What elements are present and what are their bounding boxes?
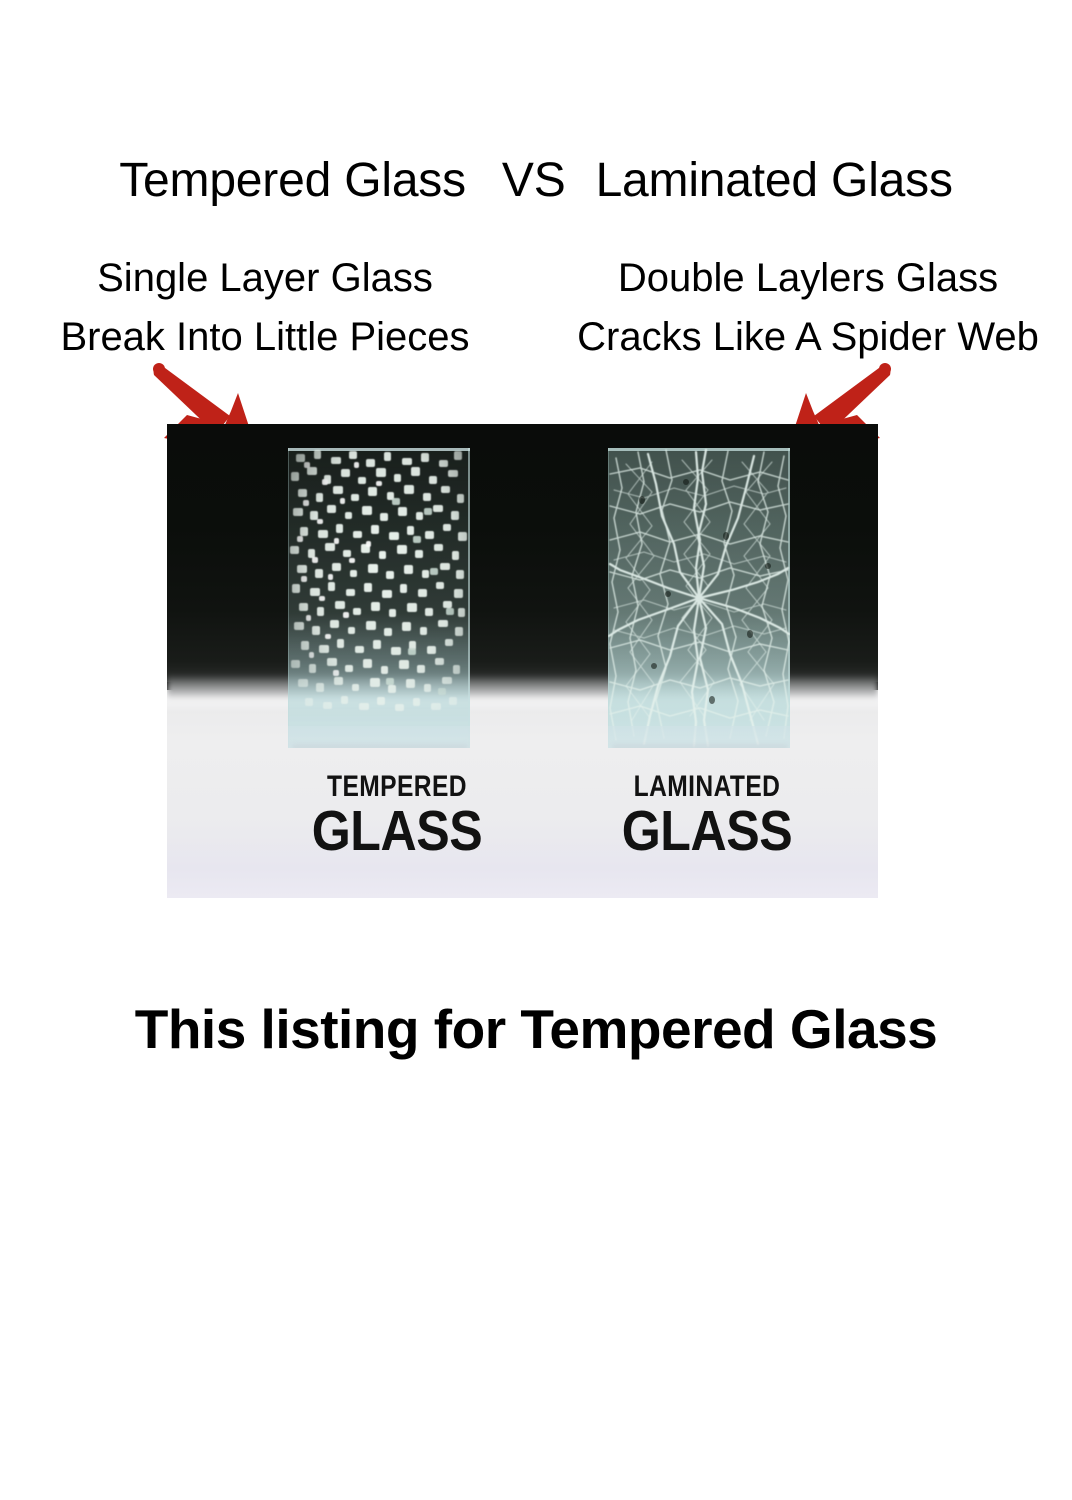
tempered-glass-panel — [288, 448, 470, 748]
laminated-description: Double Laylers Glass Cracks Like A Spide… — [548, 249, 1068, 367]
laminated-desc-line-2: Cracks Like A Spider Web — [548, 308, 1068, 367]
tempered-description: Single Layer Glass Break Into Little Pie… — [10, 249, 520, 367]
listing-note: This listing for Tempered Glass — [0, 996, 1072, 1062]
laminated-crack-web — [608, 448, 790, 748]
photo-caption-tempered: TEMPERED GLASS — [257, 771, 537, 859]
page-title: Tempered GlassVSLaminated Glass — [0, 152, 1072, 210]
tempered-desc-line-1: Single Layer Glass — [10, 249, 520, 308]
infographic-page: Tempered GlassVSLaminated Glass Single L… — [0, 0, 1072, 1500]
laminated-pane-reflection — [612, 744, 788, 748]
tempered-pane-reflection — [292, 744, 468, 748]
title-versus: VS — [502, 152, 566, 210]
tempered-desc-line-2: Break Into Little Pieces — [10, 308, 520, 367]
photo-caption-laminated-large: GLASS — [584, 803, 830, 859]
photo-caption-laminated: LAMINATED GLASS — [567, 771, 847, 859]
title-laminated-glass: Laminated Glass — [596, 152, 953, 210]
title-tempered-glass: Tempered Glass — [119, 152, 466, 210]
laminated-desc-line-1: Double Laylers Glass — [548, 249, 1068, 308]
photo-caption-tempered-large: GLASS — [274, 803, 520, 859]
glass-comparison-photo: TEMPERED GLASS LAMINATED GLASS — [167, 424, 878, 898]
tempered-fragment-field — [288, 448, 470, 748]
laminated-glass-panel — [608, 448, 790, 748]
